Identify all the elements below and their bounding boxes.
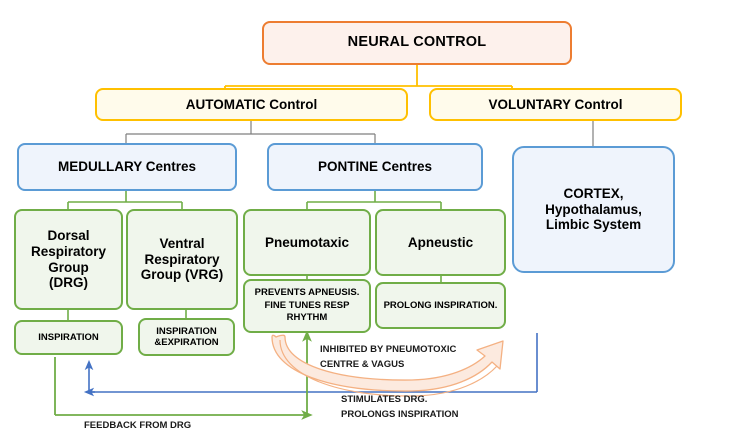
node-pneumotaxic[interactable]: Pneumotaxic (243, 209, 371, 276)
node-inspiration-label: INSPIRATION (38, 332, 99, 343)
connector-automatic-to-centres (126, 121, 375, 143)
node-automatic-control-label: AUTOMATIC Control (186, 97, 317, 113)
node-neural-control[interactable]: NEURAL CONTROL (262, 21, 572, 65)
node-medullary-centres-label: MEDULLARY Centres (58, 159, 196, 175)
node-inspiration-expiration-label: INSPIRATION &EXPIRATION (154, 326, 218, 348)
node-medullary-centres[interactable]: MEDULLARY Centres (17, 143, 237, 191)
node-cortex-label: CORTEX, Hypothalamus, Limbic System (545, 186, 642, 234)
annotation-feedback-from-drg: FEEDBACK FROM DRG (84, 419, 191, 434)
node-vrg-label: Ventral Respiratory Group (VRG) (141, 236, 224, 284)
node-pontine-centres[interactable]: PONTINE Centres (267, 143, 483, 191)
node-apneustic-label: Apneustic (408, 235, 473, 251)
connector-pontine-to-groups (307, 191, 441, 209)
node-pneumotaxic-function-label: PREVENTS APNEUSIS. FINE TUNES RESP RHYTH… (255, 287, 360, 325)
node-voluntary-control[interactable]: VOLUNTARY Control (429, 88, 682, 121)
node-apneustic[interactable]: Apneustic (375, 209, 506, 276)
node-pneumotaxic-label: Pneumotaxic (265, 235, 349, 251)
node-inspiration-expiration[interactable]: INSPIRATION &EXPIRATION (138, 318, 235, 356)
node-drg-label: Dorsal Respiratory Group (DRG) (31, 228, 106, 292)
connector-neural-to-controls (225, 65, 512, 88)
node-voluntary-control-label: VOLUNTARY Control (489, 97, 623, 113)
node-pneumotaxic-function[interactable]: PREVENTS APNEUSIS. FINE TUNES RESP RHYTH… (243, 279, 371, 333)
node-apneustic-function-label: PROLONG INSPIRATION. (384, 300, 498, 311)
node-automatic-control[interactable]: AUTOMATIC Control (95, 88, 408, 121)
annotation-stimulates-drg: STIMULATES DRG. PROLONGS INSPIRATION (341, 393, 459, 422)
node-pontine-centres-label: PONTINE Centres (318, 159, 432, 175)
connector-medullary-to-groups (68, 191, 182, 209)
diagram-canvas: NEURAL CONTROL AUTOMATIC Control VOLUNTA… (0, 0, 750, 440)
node-ventral-respiratory-group[interactable]: Ventral Respiratory Group (VRG) (126, 209, 238, 310)
node-neural-control-label: NEURAL CONTROL (348, 34, 487, 51)
node-dorsal-respiratory-group[interactable]: Dorsal Respiratory Group (DRG) (14, 209, 123, 310)
node-cortex-hypothalamus-limbic[interactable]: CORTEX, Hypothalamus, Limbic System (512, 146, 675, 273)
node-inspiration[interactable]: INSPIRATION (14, 320, 123, 355)
annotation-inhibited-by-pneumotaxic: INHIBITED BY PNEUMOTOXIC CENTRE & VAGUS (320, 343, 456, 372)
node-apneustic-function[interactable]: PROLONG INSPIRATION. (375, 282, 506, 329)
